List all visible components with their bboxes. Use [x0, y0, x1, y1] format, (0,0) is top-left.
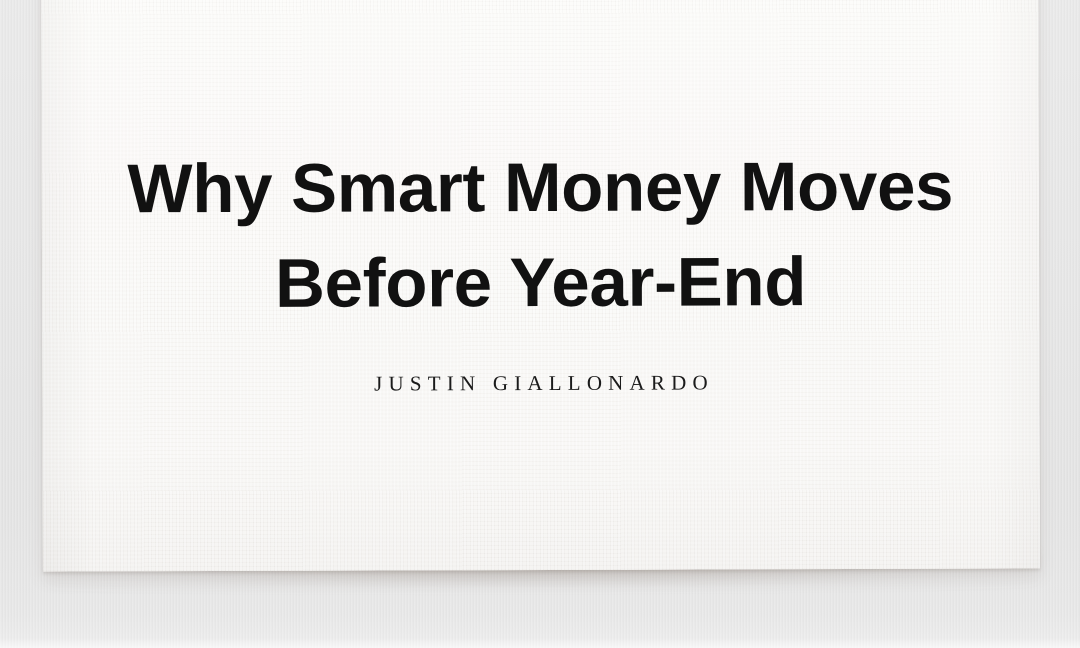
slide-title-line-1: Why Smart Money Moves [82, 139, 999, 237]
slide-card[interactable]: Why Smart Money Moves Before Year-End JU… [41, 0, 1040, 572]
slide-content: Why Smart Money Moves Before Year-End JU… [41, 0, 1040, 572]
slide-title: Why Smart Money Moves Before Year-End [42, 138, 1040, 331]
slide-title-line-2: Before Year-End [82, 234, 999, 332]
presentation-stage: Why Smart Money Moves Before Year-End JU… [0, 0, 1080, 648]
slide-surface[interactable]: Why Smart Money Moves Before Year-End JU… [41, 0, 1040, 572]
backdrop-floor-highlight [0, 638, 1080, 648]
slide-byline-author: JUSTIN GIALLONARDO [42, 369, 1039, 397]
